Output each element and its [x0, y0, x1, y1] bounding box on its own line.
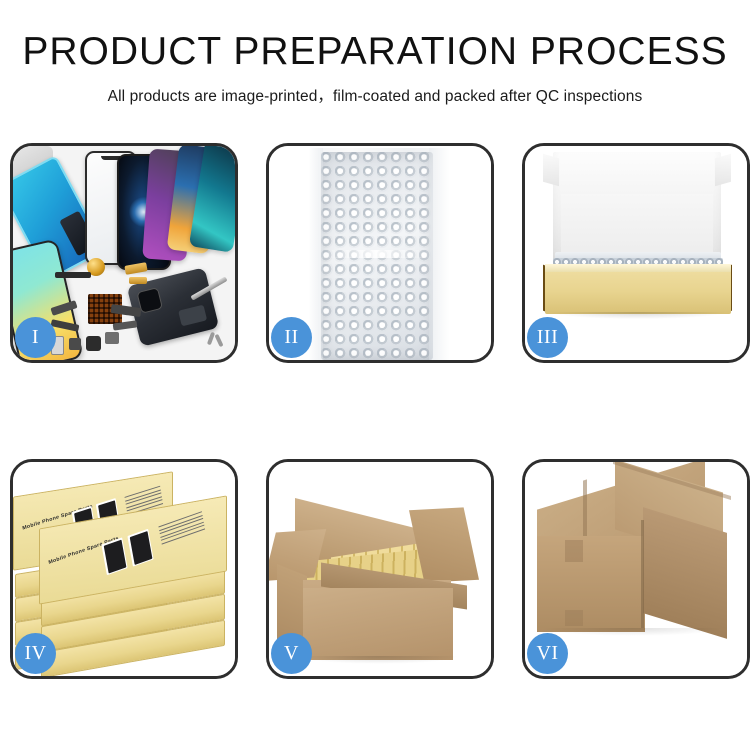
spare-part-gold-contact-2 [129, 277, 147, 284]
spare-part-screw-1 [207, 332, 215, 346]
carton-front-face [303, 588, 453, 660]
step-badge-3: III [527, 317, 568, 358]
sealed-carton-shadow [541, 628, 725, 636]
step-badge-4: IV [15, 633, 56, 674]
sealed-carton-vertical-edge [641, 520, 644, 628]
process-step-card-6: VI [522, 459, 750, 679]
step-badge-5: V [271, 633, 312, 674]
process-step-card-2: II [266, 143, 494, 363]
process-step-grid: I II III [0, 0, 750, 750]
inner-box-shadow [551, 312, 725, 319]
inner-box-kraft-tray [545, 264, 731, 314]
bubble-wrap-edge-left [309, 148, 323, 360]
process-step-card-5: V [266, 459, 494, 679]
sealed-carton-tab-lower [565, 610, 583, 626]
sealed-carton-front-face [537, 536, 645, 632]
step-badge-2: II [271, 317, 312, 358]
spare-part-earpiece-strip [55, 272, 91, 278]
bubble-wrap-sheen [321, 250, 433, 258]
spare-part-camera-module [86, 336, 101, 351]
product-preparation-page: PRODUCT PREPARATION PROCESS All products… [0, 0, 750, 750]
step-badge-6: VI [527, 633, 568, 674]
sealed-carton-tab-upper [565, 540, 583, 562]
process-step-card-1: I [10, 143, 238, 363]
spare-part-button [69, 338, 81, 350]
process-step-card-3: III [522, 143, 750, 363]
step-badge-1: I [15, 317, 56, 358]
spare-part-screw-2 [214, 334, 223, 347]
spare-part-chip [105, 332, 119, 344]
bubble-wrap-edge-right [429, 148, 449, 360]
process-step-card-4: Mobile Phone Spare Parts Mobile Phone Sp… [10, 459, 238, 679]
carton-shadow [299, 656, 459, 664]
